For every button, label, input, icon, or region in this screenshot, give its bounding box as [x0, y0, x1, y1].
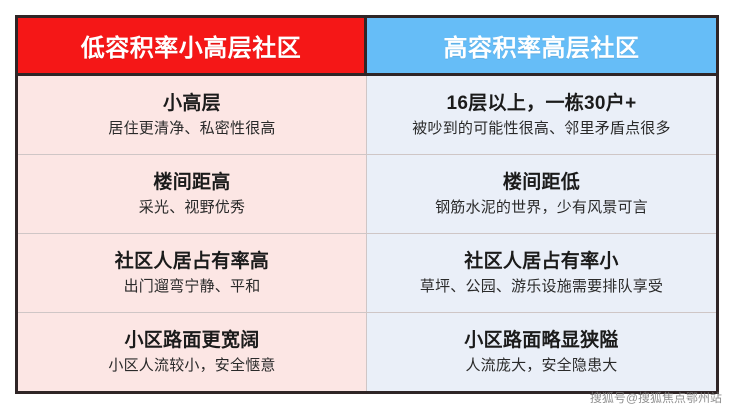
table-header-row: 低容积率小高层社区 高容积率高层社区	[18, 18, 716, 76]
table-row: 小高层 居住更清净、私密性很高 16层以上，一栋30户+ 被吵到的可能性很高、邻…	[18, 76, 716, 155]
table-cell-right: 小区路面略显狭隘 人流庞大，安全隐患大	[367, 313, 716, 391]
table-cell-right: 16层以上，一栋30户+ 被吵到的可能性很高、邻里矛盾点很多	[367, 76, 716, 154]
cell-title: 小高层	[163, 92, 221, 116]
table-row: 社区人居占有率高 出门遛弯宁静、平和 社区人居占有率小 草坪、公园、游乐设施需要…	[18, 234, 716, 313]
table-cell-right: 社区人居占有率小 草坪、公园、游乐设施需要排队享受	[367, 234, 716, 312]
cell-title: 社区人居占有率高	[115, 250, 269, 274]
cell-title: 楼间距低	[503, 171, 580, 195]
cell-subtitle: 人流庞大，安全隐患大	[465, 357, 617, 376]
table-cell-left: 楼间距高 采光、视野优秀	[18, 155, 367, 233]
table-header-cell-high-plot-ratio: 高容积率高层社区	[367, 18, 716, 73]
cell-subtitle: 采光、视野优秀	[139, 199, 245, 218]
cell-title: 楼间距高	[153, 171, 230, 195]
table-body: 小高层 居住更清净、私密性很高 16层以上，一栋30户+ 被吵到的可能性很高、邻…	[18, 76, 716, 391]
table-row: 小区路面更宽阔 小区人流较小，安全惬意 小区路面略显狭隘 人流庞大，安全隐患大	[18, 313, 716, 391]
cell-title: 小区路面更宽阔	[124, 329, 259, 353]
cell-title: 16层以上，一栋30户+	[447, 92, 637, 116]
cell-subtitle: 被吵到的可能性很高、邻里矛盾点很多	[412, 120, 670, 139]
table-cell-left: 小高层 居住更清净、私密性很高	[18, 76, 367, 154]
table-cell-left: 社区人居占有率高 出门遛弯宁静、平和	[18, 234, 367, 312]
cell-title: 社区人居占有率小	[464, 250, 618, 274]
cell-subtitle: 出门遛弯宁静、平和	[124, 278, 261, 297]
table-row: 楼间距高 采光、视野优秀 楼间距低 钢筋水泥的世界，少有风景可言	[18, 155, 716, 234]
cell-subtitle: 小区人流较小，安全惬意	[108, 357, 275, 376]
cell-subtitle: 钢筋水泥的世界，少有风景可言	[435, 199, 648, 218]
table-cell-left: 小区路面更宽阔 小区人流较小，安全惬意	[18, 313, 367, 391]
table-cell-right: 楼间距低 钢筋水泥的世界，少有风景可言	[367, 155, 716, 233]
comparison-table: 低容积率小高层社区 高容积率高层社区 小高层 居住更清净、私密性很高 16层以上…	[15, 15, 719, 394]
cell-subtitle: 草坪、公园、游乐设施需要排队享受	[420, 278, 663, 297]
table-header-cell-low-plot-ratio: 低容积率小高层社区	[18, 18, 367, 73]
cell-title: 小区路面略显狭隘	[464, 329, 618, 353]
cell-subtitle: 居住更清净、私密性很高	[108, 120, 275, 139]
